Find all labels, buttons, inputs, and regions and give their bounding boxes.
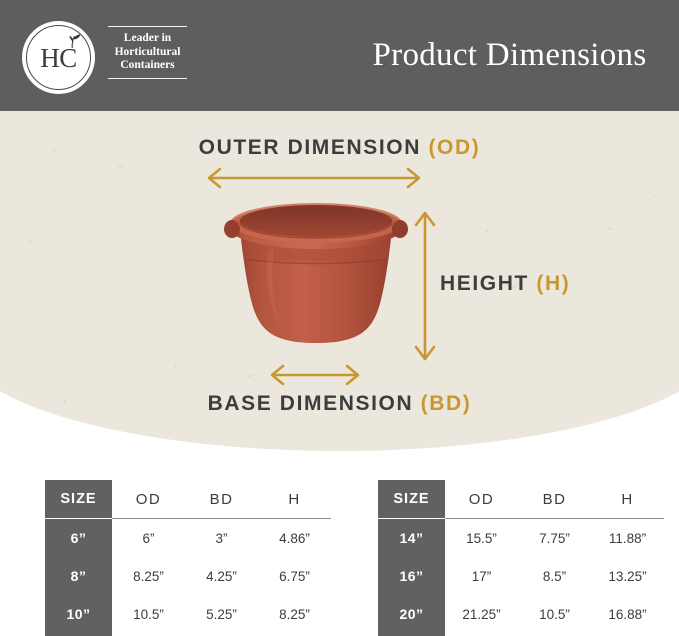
header-h: H [591, 480, 664, 519]
header-od: OD [445, 480, 518, 519]
table-row: 6” 6” 3” 4.86” [45, 519, 331, 558]
cell-size: 16” [378, 557, 445, 595]
cell-h: 11.88” [591, 519, 664, 558]
page-title: Product Dimensions [340, 0, 679, 111]
cell-size: 14” [378, 519, 445, 558]
header-h: H [258, 480, 331, 519]
table-header-row: SIZE OD BD H [378, 480, 664, 519]
base-dimension-label: BASE DIMENSION (BD) [0, 392, 679, 416]
cell-bd: 10.5” [518, 595, 591, 633]
logo-monogram: HC [22, 45, 95, 72]
cell-bd: 4.25” [185, 557, 258, 595]
height-dimension-label: HEIGHT (H) [440, 272, 570, 296]
cell-h: 16.88” [591, 595, 664, 633]
header-od: OD [112, 480, 185, 519]
dimensions-table-left: SIZE OD BD H 6” 6” 3” 4.86” 8” 8.25” 4.2… [45, 480, 331, 636]
cell-bd: 3” [185, 519, 258, 558]
cell-size: 8” [45, 557, 112, 595]
cell-od: 17” [445, 557, 518, 595]
table-row: 16” 17” 8.5” 13.25” [378, 557, 664, 595]
header-size: SIZE [378, 480, 445, 519]
outer-dimension-label: OUTER DIMENSION (OD) [0, 136, 679, 160]
table-row: 10” 10.5” 5.25” 8.25” [45, 595, 331, 633]
logo-tagline: Leader in Horticultural Containers [108, 26, 187, 79]
height-dimension-arrow [412, 206, 438, 366]
product-dimensions-infographic: HC Leader in Horticultural Containers Pr… [0, 0, 679, 636]
base-dimension-arrow [264, 363, 366, 387]
cell-od: 6” [112, 519, 185, 558]
flower-pot-illustration [224, 197, 408, 359]
cell-size: 20” [378, 595, 445, 633]
header-size: SIZE [45, 480, 112, 519]
cell-bd: 8.5” [518, 557, 591, 595]
cell-bd: 7.75” [518, 519, 591, 558]
outer-dimension-arrow [200, 166, 428, 190]
outer-dimension-text: OUTER DIMENSION [199, 136, 429, 159]
cell-od: 10.5” [112, 595, 185, 633]
table-row: 8” 8.25” 4.25” 6.75” [45, 557, 331, 595]
cell-od: 15.5” [445, 519, 518, 558]
table-row: 14” 15.5” 7.75” 11.88” [378, 519, 664, 558]
cell-od: 21.25” [445, 595, 518, 633]
cell-h: 4.86” [258, 519, 331, 558]
header-bar: HC Leader in Horticultural Containers Pr… [0, 0, 679, 111]
base-dimension-text: BASE DIMENSION [208, 392, 421, 415]
logo-circle-badge: HC [22, 21, 95, 94]
header-bd: BD [185, 480, 258, 519]
dimensions-table-right: SIZE OD BD H 14” 15.5” 7.75” 11.88” 16” … [378, 480, 664, 636]
base-dimension-tag: (BD) [421, 392, 472, 415]
cell-h: 6.75” [258, 557, 331, 595]
cell-bd: 5.25” [185, 595, 258, 633]
table-header-row: SIZE OD BD H [45, 480, 331, 519]
logo-rule-bottom [108, 78, 187, 79]
tagline-line-1: Leader in [108, 32, 187, 46]
height-dimension-text: HEIGHT [440, 272, 536, 295]
cell-od: 8.25” [112, 557, 185, 595]
height-dimension-tag: (H) [536, 272, 570, 295]
cell-size: 10” [45, 595, 112, 633]
cell-size: 6” [45, 519, 112, 558]
brand-logo: HC Leader in Horticultural Containers [22, 21, 187, 95]
tagline-line-3: Containers [108, 59, 187, 73]
header-bd: BD [518, 480, 591, 519]
cell-h: 8.25” [258, 595, 331, 633]
cell-h: 13.25” [591, 557, 664, 595]
tagline-line-2: Horticultural [108, 46, 187, 60]
outer-dimension-tag: (OD) [428, 136, 480, 159]
table-row: 20” 21.25” 10.5” 16.88” [378, 595, 664, 633]
